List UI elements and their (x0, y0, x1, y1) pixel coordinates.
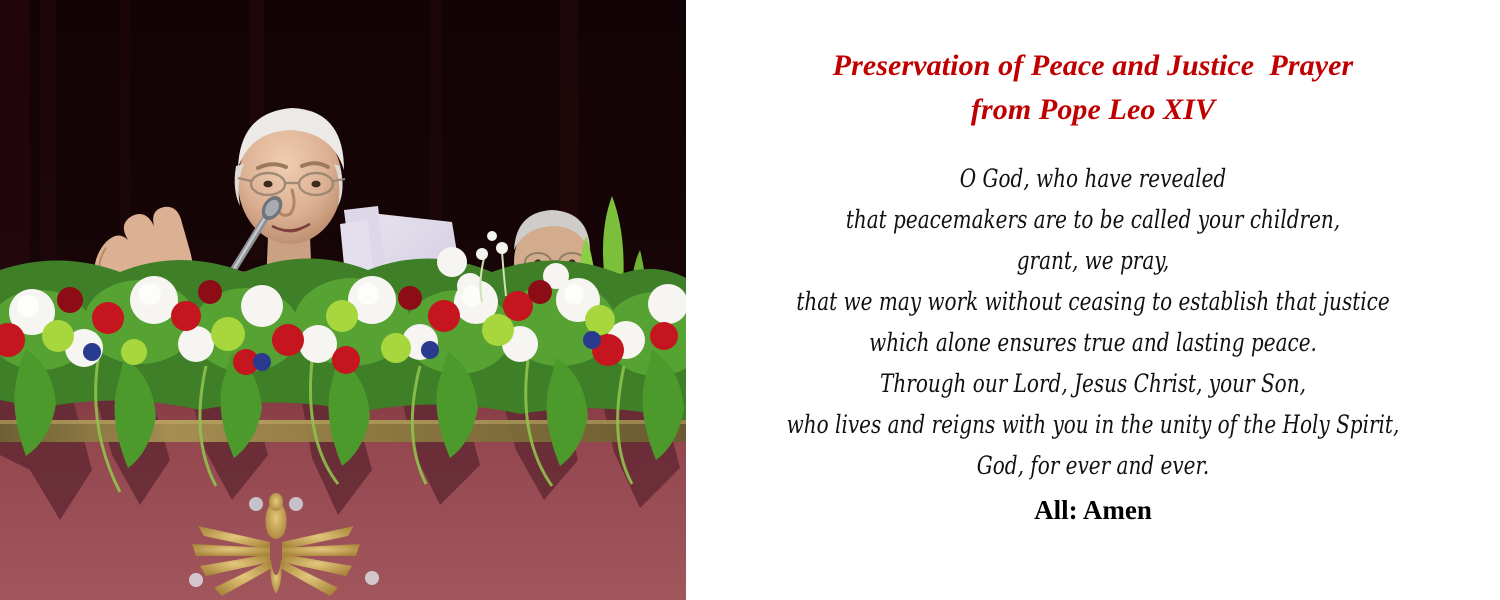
prayer-line-3: grant, we pray, (767, 240, 1418, 281)
title-line-2: from Pope Leo XIV (686, 88, 1500, 132)
prayer-title: Preservation of Peace and Justice Prayer… (686, 0, 1500, 132)
prayer-line-1: O God, who have revealed (767, 158, 1418, 199)
photo-illustration (0, 0, 686, 600)
prayer-line-7: who lives and reigns with you in the uni… (767, 404, 1418, 445)
title-line-1: Preservation of Peace and Justice Prayer (686, 44, 1500, 88)
prayer-line-4: that we may work without ceasing to esta… (767, 281, 1418, 322)
prayer-line-2: that peacemakers are to be called your c… (767, 199, 1418, 240)
prayer-card: Preservation of Peace and Justice Prayer… (0, 0, 1500, 600)
prayer-line-5: which alone ensures true and lasting pea… (767, 322, 1418, 363)
prayer-response: All: Amen (686, 492, 1500, 528)
prayer-line-6: Through our Lord, Jesus Christ, your Son… (767, 363, 1418, 404)
prayer-body: O God, who have revealed that peacemaker… (686, 158, 1500, 486)
prayer-text-panel: Preservation of Peace and Justice Prayer… (686, 0, 1500, 600)
prayer-photo (0, 0, 686, 600)
prayer-line-8: God, for ever and ever. (767, 445, 1418, 486)
